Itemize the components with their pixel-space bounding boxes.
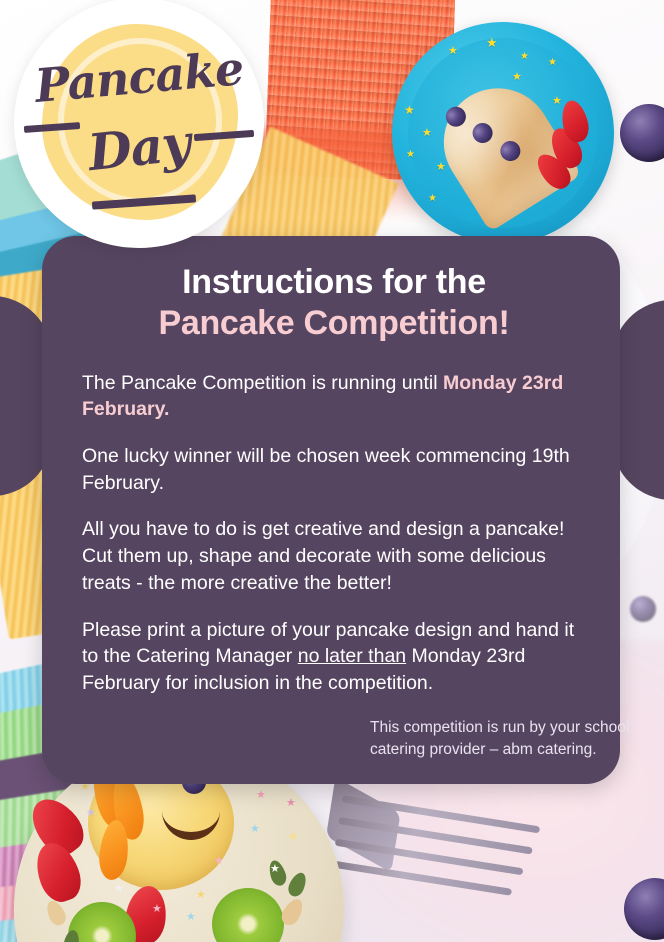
pancake-day-logo: Pancake Day [14,0,264,248]
poster-canvas: ★ ★ ★ ★ ★ ★ ★ ★ ★ ★ ★ ★ [0,0,664,942]
star-sprinkle: ★ [448,46,458,57]
title-line-1: Instructions for the [182,263,486,301]
star-sprinkle: ★ [256,790,266,801]
star-sprinkle: ★ [152,904,162,915]
star-sprinkle: ★ [270,864,280,875]
star-sprinkle: ★ [486,36,498,49]
star-sprinkle: ★ [86,808,96,819]
star-sprinkle: ★ [436,162,446,173]
star-sprinkle: ★ [428,194,437,204]
footnote: This competition is run by your school c… [370,717,664,761]
instructions-body: The Pancake Competition is running until… [82,370,586,761]
star-sprinkle: ★ [196,890,206,901]
blueberry-mid-right [630,596,656,622]
card-content: Instructions for the Pancake Competition… [42,236,620,784]
paragraph-how-to-enter: All you have to do is get creative and d… [82,516,586,596]
paragraph-submission: Please print a picture of your pancake d… [82,617,586,697]
star-sprinkle: ★ [406,150,415,160]
paragraph-deadline: The Pancake Competition is running until… [82,370,586,423]
star-sprinkle: ★ [548,58,557,68]
star-sprinkle: ★ [214,856,224,867]
page-title: Instructions for the Pancake Competition… [82,262,586,344]
star-sprinkle: ★ [286,798,296,809]
submission-emphasis: no later than [298,645,406,667]
title-line-2: Pancake Competition! [82,303,586,344]
star-sprinkle: ★ [114,884,124,895]
rocket-pancake-plate: ★ ★ ★ ★ ★ ★ ★ ★ ★ ★ ★ ★ [392,22,614,244]
star-sprinkle: ★ [288,832,298,843]
star-sprinkle: ★ [186,912,196,923]
paragraph-winner: One lucky winner will be chosen week com… [82,443,586,496]
star-sprinkle: ★ [250,824,260,835]
instructions-card: Instructions for the Pancake Competition… [42,236,620,784]
deadline-text: The Pancake Competition is running until [82,372,443,394]
